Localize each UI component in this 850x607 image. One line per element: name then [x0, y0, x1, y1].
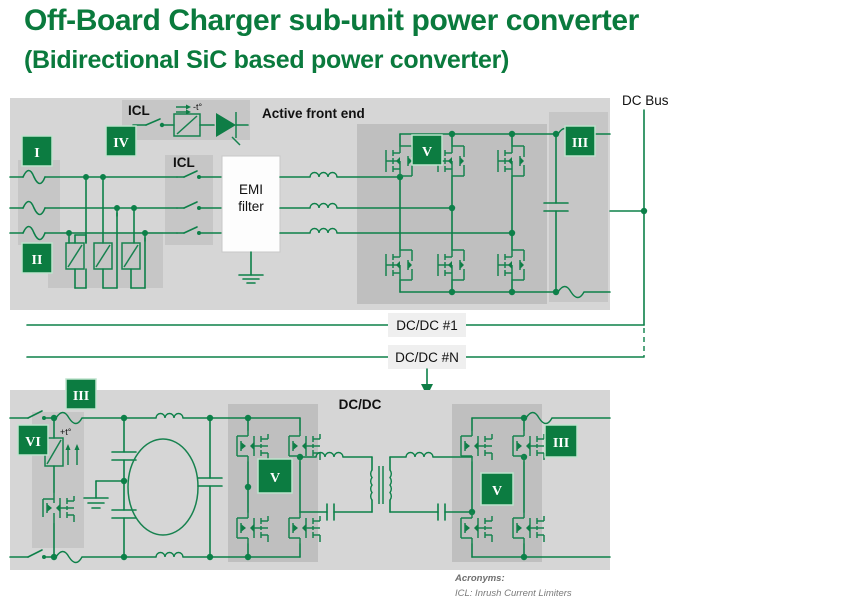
acronyms-line-1: ICL: Inrush Current Limiters [455, 588, 572, 599]
dcdc-section-label: DC/DC [339, 397, 382, 412]
icl-top-label: ICL [128, 103, 150, 118]
ptc-marker-label: +t° [60, 427, 72, 437]
badge-iv-label: IV [113, 136, 129, 151]
badge-vi-label: VI [25, 435, 41, 450]
dcdcn-label: DC/DC #N [395, 350, 459, 365]
badge-iii-dcdc-right-label: III [553, 436, 569, 451]
dc-bus-label: DC Bus [622, 93, 669, 108]
ntc-minus-t-label: -t° [193, 102, 202, 112]
badge-v-dcdc-right-label: V [492, 484, 502, 499]
badge-v-afe-label: V [422, 145, 432, 160]
active-front-end-label: Active front end [262, 106, 365, 121]
emi-filter-label-2: filter [238, 199, 264, 214]
badge-v-dcdc-left-label: V [270, 471, 280, 486]
badge-iii-dcdc-left-label: III [73, 389, 89, 404]
schematic-diagram: ICL -t° IV Active front end I [0, 0, 850, 607]
emi-filter-label-1: EMI [239, 182, 263, 197]
badge-iii-afe-label: III [572, 136, 588, 151]
dcdc1-label: DC/DC #1 [396, 318, 458, 333]
icl-mid-label: ICL [173, 155, 195, 170]
badge-i-label: I [34, 146, 39, 161]
badge-ii-label: II [32, 253, 43, 268]
acronyms-heading: Acronyms: [454, 573, 505, 584]
